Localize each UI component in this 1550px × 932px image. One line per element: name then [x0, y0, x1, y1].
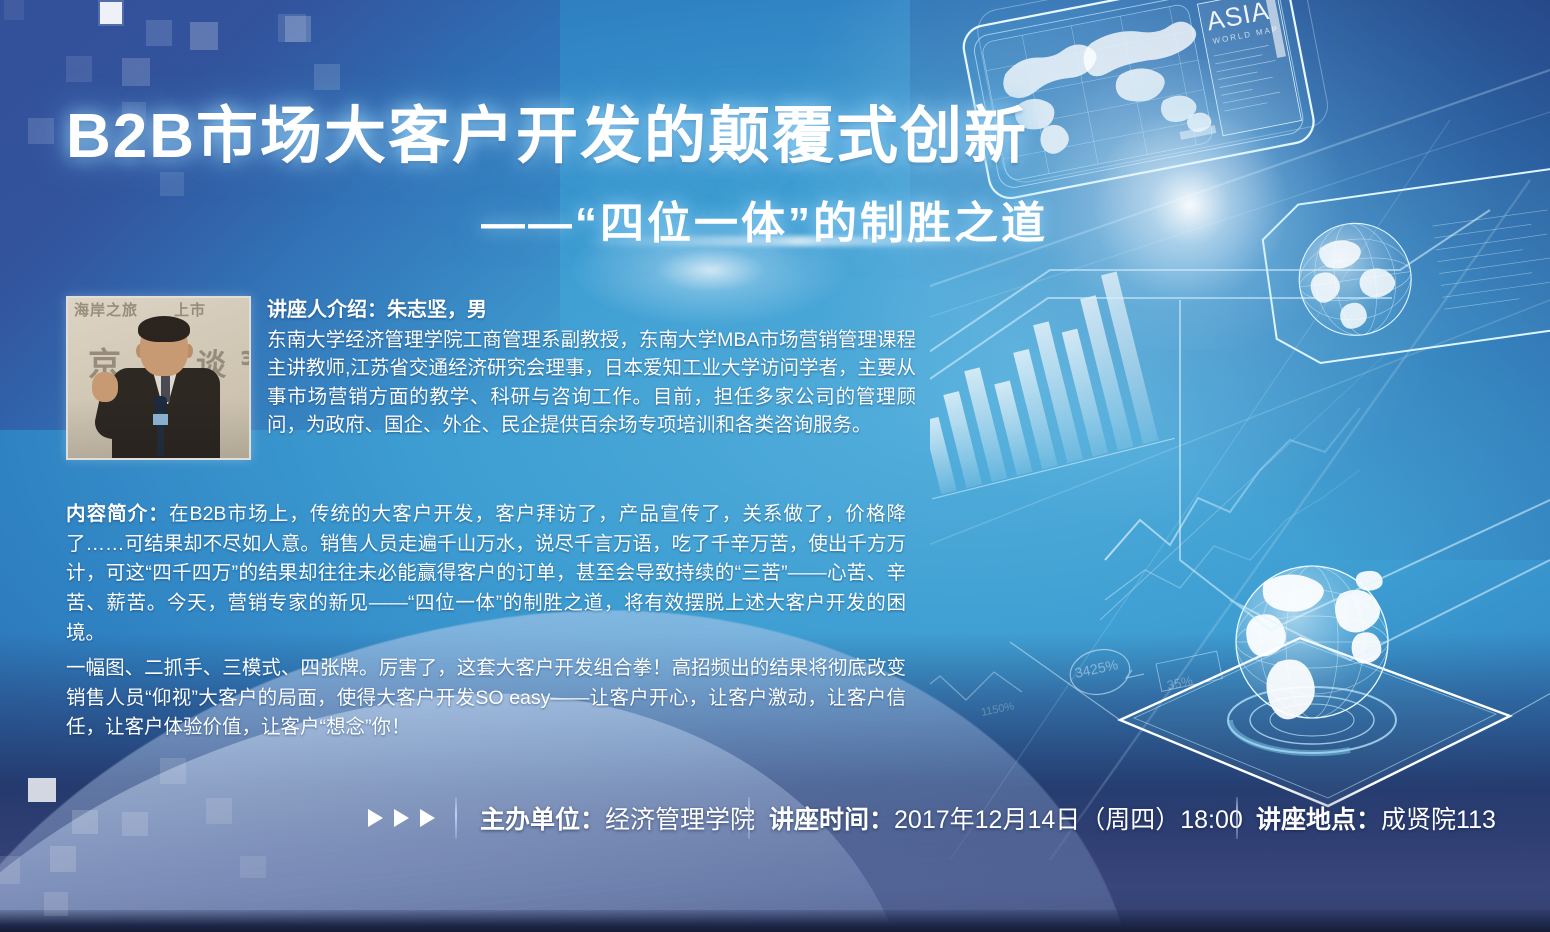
background-top-right-tint [910, 0, 1550, 560]
footer-divider [455, 797, 457, 839]
poster-subtitle: ——“四位一体”的制胜之道 [0, 187, 1100, 251]
speaker-label: 讲座人介绍：朱志坚，男 [267, 296, 916, 325]
footer-place: 讲座地点：成贤院113 [1256, 793, 1496, 843]
triangle-right-icon [394, 809, 409, 827]
content-paragraph-1: 内容简介：在B2B市场上，传统的大客户开发，客户拜访了，产品宣传了，关系做了，价… [66, 500, 906, 648]
title-block: B2B市场大客户开发的颠覆式创新 ——“四位一体”的制胜之道 [0, 104, 1100, 251]
bottom-edge-strip [0, 910, 1550, 932]
footer-organizer-value: 经济管理学院 [605, 800, 755, 836]
poster-root: ASIA WORLD MAP [0, 0, 1550, 932]
speaker-bio: 东南大学经济管理学院工商管理系副教授，东南大学MBA市场营销管理课程主讲教师,江… [267, 326, 916, 439]
poster-title: B2B市场大客户开发的颠覆式创新 [0, 104, 1100, 171]
footer-organizer: 主办单位：经济管理学院 [480, 793, 755, 843]
photo-shading [68, 298, 249, 458]
content-lead-label: 内容简介： [66, 503, 169, 525]
content-body-1: 在B2B市场上，传统的大客户开发，客户拜访了，产品宣传了，关系做了，价格降了……… [66, 503, 906, 644]
footer-organizer-label: 主办单位： [480, 800, 605, 836]
content-paragraph-2: 一幅图、二抓手、三模式、四张牌。厉害了，这套大客户开发组合拳！高招频出的结果将彻… [66, 654, 906, 743]
triangle-right-icon [420, 809, 435, 827]
footer-place-value: 成贤院113 [1381, 800, 1496, 836]
speaker-block: 海岸之旅 上市 京 谈 э 讲座人介绍：朱志坚，男 东南大学经济管理学院工商管理… [66, 296, 916, 460]
footer-time-label: 讲座时间： [769, 800, 894, 836]
speaker-info: 讲座人介绍：朱志坚，男 东南大学经济管理学院工商管理系副教授，东南大学MBA市场… [267, 296, 916, 460]
footer-place-label: 讲座地点： [1256, 800, 1381, 836]
footer-divider [1236, 797, 1238, 839]
footer-bar: 主办单位：经济管理学院 讲座时间：2017年12月14日（周四）18:00 讲座… [0, 793, 1550, 843]
footer-arrows [368, 793, 435, 843]
triangle-right-icon [368, 809, 383, 827]
speaker-photo: 海岸之旅 上市 京 谈 э [66, 296, 251, 460]
footer-time: 讲座时间：2017年12月14日（周四）18:00 [769, 793, 1243, 843]
content-block: 内容简介：在B2B市场上，传统的大客户开发，客户拜访了，产品宣传了，关系做了，价… [66, 500, 906, 743]
footer-time-value: 2017年12月14日（周四）18:00 [894, 800, 1243, 836]
footer-divider [748, 797, 750, 839]
